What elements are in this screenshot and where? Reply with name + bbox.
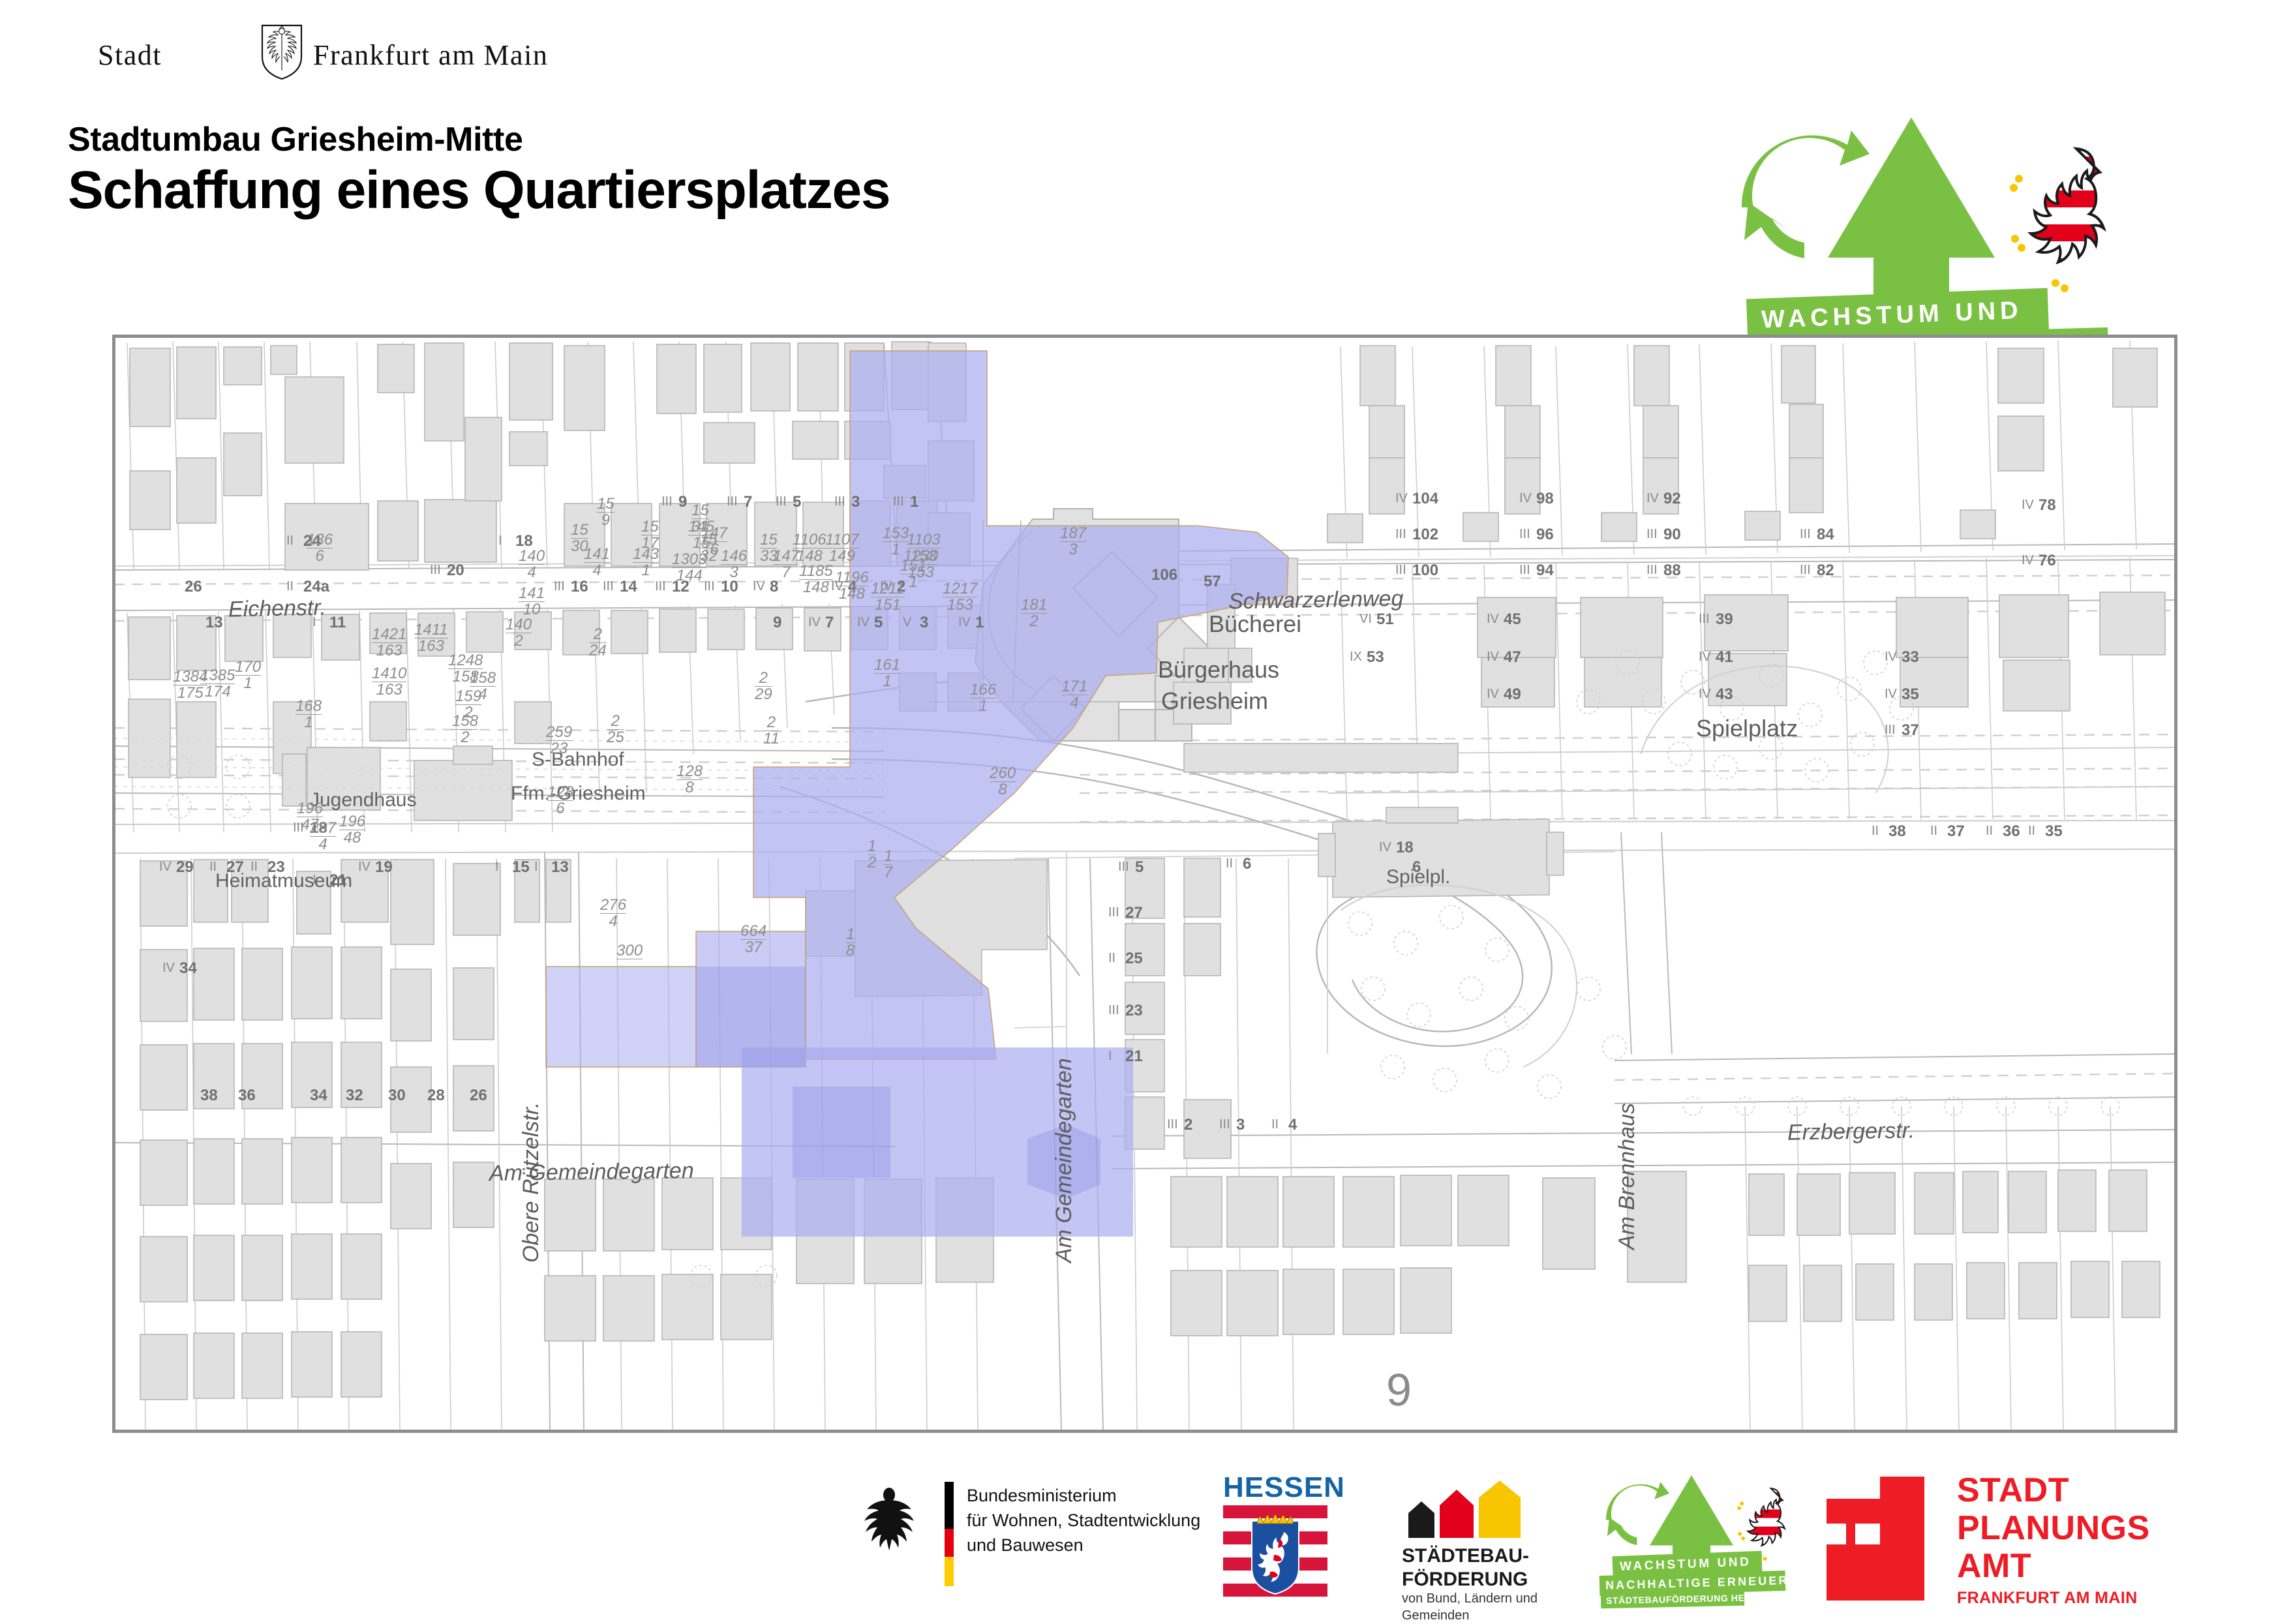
house-number: 30 [388,1087,406,1105]
building-storeys: IV [1487,687,1499,702]
building-storeys: II [1108,951,1115,966]
stadtplanungsamt-subtitle: FRANKFURT AM MAIN [1957,1589,2138,1608]
building-storeys: III [655,579,666,594]
building-storeys: III [661,494,673,509]
building-storeys: I [312,615,316,630]
poi-buergerhaus: Bürgerhaus [1158,656,1279,684]
house-number: 7 [744,493,752,511]
parcel-number: 1812 [1021,597,1047,629]
building-storeys: III [776,494,787,509]
parcel-number: 1421163 [372,627,406,659]
building-storeys: III [603,579,614,594]
house-number: 6 [1412,858,1421,877]
house-number: 26 [470,1087,487,1105]
staedtebau-sub-2: Gemeinden [1402,1607,1538,1624]
house-number: 21 [1125,1047,1143,1066]
staedtebau-line-1: STÄDTEBAU- [1402,1544,1529,1568]
parcel-number: 25923 [546,725,572,757]
building-storeys: III [1118,860,1129,875]
poi-buecherei: Bücherei [1209,610,1301,638]
parcel-number: 1611 [874,657,900,689]
parcel-number: 1531 [691,503,709,535]
page-title: Schaffung eines Quartiersplatzes [68,160,890,221]
building-storeys: I [312,873,316,888]
building-storeys: II [2028,824,2035,839]
street-label-eichenstr: Eichenstr. [228,595,327,622]
building-storeys: III [430,563,441,578]
house-number: 100 [1412,562,1438,580]
parcel-number: 1288 [676,764,703,796]
hessen-lion-shield-icon [1251,1512,1300,1595]
building-storeys: III [1699,612,1710,627]
building-storeys: II [286,579,294,594]
house-number: 76 [2039,552,2056,570]
parcel-number: 1533 [760,532,778,564]
stadtplanungsamt-line-3: AMT [1957,1547,2150,1585]
building-storeys: II [1271,1117,1279,1132]
house-number: 94 [1536,562,1554,580]
building-storeys: IV [2022,498,2034,513]
house-number: 9 [678,493,687,511]
house-number: 51 [1376,610,1394,629]
house-number: 9 [773,614,781,632]
staedtebaufoerderung-logo: STÄDTEBAU- FÖRDERUNG von Bund, Ländern u… [1386,1467,1575,1617]
parcel-number: 1286 [547,785,573,817]
house-number: 43 [1716,685,1733,704]
parcel-number: 1701 [235,659,261,691]
parcel-number: 12 [868,839,876,871]
parcel-number: 1410163 [372,666,406,698]
building-storeys: IV [1699,650,1711,665]
house-number: 2 [1184,1116,1192,1134]
parcel-number: 1530 [571,522,588,554]
building-storeys: III [1219,1117,1230,1132]
building-storeys: III [1395,527,1406,542]
staedtebau-subtext: von Bund, Ländern und Gemeinden [1402,1590,1538,1624]
house-number: 27 [226,858,244,877]
house-number: 1 [975,614,984,632]
page-header: Stadt Frankfurt am Main Stadtumbau Gries… [0,0,2289,326]
house-number: 88 [1663,562,1681,580]
staedtebau-sub-1: von Bund, Ländern und [1402,1590,1538,1607]
bmwsb-text: Bundesministerium für Wohnen, Stadtentwi… [967,1483,1200,1557]
house-number: 13 [551,858,569,877]
building-storeys: IV [808,615,821,630]
house-number: 35 [2045,822,2063,841]
house-number: 38 [1888,822,1906,841]
house-number: 16 [571,578,588,596]
poi-jugendhaus: Jugendhaus [310,789,416,811]
parcel-number: 1463 [721,549,747,580]
staedtebau-text: STÄDTEBAU- FÖRDERUNG [1402,1544,1529,1591]
building-storeys: II [209,860,217,875]
house-number: 35 [1902,685,1919,704]
house-number: 13 [205,614,223,632]
building-storeys: IV [2022,553,2034,568]
parcel-number: 1681 [296,699,322,730]
house-number: 24a [303,578,329,596]
house-number: 33 [1902,648,1919,667]
building-storeys: IV [753,579,765,594]
parcel-number: 229 [755,670,772,702]
parcel-number: 1185148 [799,564,833,595]
bmwsb-logo: Bundesministerium für Wohnen, Stadtentwi… [861,1467,1213,1617]
parcel-number: 300 [616,943,643,959]
building-storeys: III [1519,563,1530,578]
house-number: 37 [1902,721,1919,740]
house-number: 41 [1716,648,1733,667]
parcel-number: 1402 [506,617,532,649]
poi-spielplatz: Spielplatz [1696,715,1798,742]
building-storeys: III [1885,723,1896,738]
hessen-logo: HESSEN [1210,1467,1347,1617]
parcel-number: 19648 [339,814,365,846]
house-number: 45 [1504,610,1521,629]
building-storeys: II [1226,856,1233,871]
house-number: 25 [1125,950,1143,968]
house-number: 37 [1947,822,1965,841]
building-storeys: IV [1379,840,1391,855]
city-logo-word-left: Stadt [98,38,162,72]
building-storeys: IV [958,615,971,630]
house-number: 5 [793,493,801,511]
building-storeys: IV [1699,687,1711,702]
building-storeys: III [1395,563,1406,578]
building-storeys: III [1800,563,1811,578]
parcel-number: 1217153 [943,581,977,613]
german-flag-bar-icon [945,1482,954,1586]
house-number: 7 [825,614,834,632]
bmwsb-line-3: und Bauwesen [967,1533,1200,1557]
house-number: 106 [1151,566,1177,584]
parcel-number: 1582 [452,714,478,745]
house-number: 78 [2039,496,2056,515]
parcel-number: 211 [763,715,780,747]
house-number: 19 [375,858,393,877]
building-storeys: III [1167,1117,1178,1132]
parcel-number: 224 [589,627,607,659]
building-storeys: I [498,534,502,549]
building-storeys: IV [1519,491,1532,506]
house-number: 49 [1504,685,1521,704]
house-number: 1 [910,493,918,511]
house-number: 3 [1236,1116,1245,1134]
building-storeys: IV [1487,612,1499,627]
house-number: 3 [851,493,860,511]
house-number: 36 [2003,822,2020,841]
house-number: 18 [1396,839,1414,857]
parcel-number: 66437 [740,924,766,955]
street-label-am-brennhaus: Am Brennhaus [1614,1103,1640,1250]
street-label-obere-ruetzelstr: Obere Rützelstr. [519,1102,544,1263]
building-storeys: III [1646,527,1658,542]
bmwsb-line-2: für Wohnen, Stadtentwicklung [967,1508,1200,1533]
building-storeys: IV [1487,650,1499,665]
building-storeys: IV [1885,687,1897,702]
cadastral-map[interactable]: Eichenstr. Schwarzerlenweg Erzbergerstr.… [112,335,2177,1433]
bmwsb-line-1: Bundesministerium [967,1483,1200,1508]
parcel-number: 2764 [600,897,626,929]
parcel-number: 1531 [883,526,909,558]
building-storeys: IV [1395,491,1408,506]
building-storeys: IV [1885,650,1897,665]
house-number: 20 [447,562,464,580]
building-storeys: II [1930,824,1937,839]
building-storeys: I [495,860,499,875]
house-number: 84 [1817,526,1834,544]
house-number: 15 [512,858,530,877]
building-storeys: IX [1350,650,1362,665]
house-number: 23 [1125,1002,1143,1020]
house-number: 57 [1204,573,1221,591]
house-number: 34 [310,1087,327,1105]
house-number: 8 [770,578,778,596]
building-storeys: II [286,534,294,549]
stadtplanungsamt-logo: STADT PLANUNGS AMT FRANKFURT AM MAIN [1827,1467,2192,1617]
three-houses-icon [1402,1479,1532,1538]
stadtplanungsamt-line-2: PLANUNGS [1957,1509,2150,1547]
funding-logos-footer: Bundesministerium für Wohnen, Stadtentwi… [0,1467,2289,1617]
building-storeys: IV [1646,491,1659,506]
stadtplanungsamt-line-1: STADT [1957,1471,2150,1509]
house-number: 96 [1536,526,1554,544]
parcel-number: 18 [846,927,855,959]
building-storeys: III [1646,563,1658,578]
parcel-number: 2608 [990,766,1016,798]
building-storeys: IV [162,961,175,976]
staedtebau-line-2: FÖRDERUNG [1402,1568,1529,1591]
city-of-frankfurt-logo: Stadt Frankfurt am Main [98,29,515,76]
building-storeys: III [834,494,845,509]
parcel-number: 1714 [1061,679,1087,711]
wachstum-footer-logo: WACHSTUM UND NACHHALTIGE ERNEUERUNG STÄD… [1598,1467,1800,1617]
house-number: 82 [1817,562,1834,580]
house-number: 104 [1412,490,1438,508]
map-big-number: 9 [1386,1364,1412,1416]
poi-buergerhaus-griesheim: Griesheim [1161,687,1268,715]
parcel-number: 17 [884,849,892,880]
building-storeys: II [1986,824,1993,839]
building-storeys: III [893,494,904,509]
parcel-number: 159 [597,496,614,528]
house-number: 23 [267,858,285,877]
house-number: 6 [1243,855,1251,873]
building-storeys: V [903,615,911,630]
building-storeys: IV [159,860,172,875]
hessen-lion-icon [1993,143,2117,300]
project-subtitle: Stadtumbau Griesheim-Mitte [68,120,523,159]
building-storeys: II [250,860,258,875]
frankfurt-eagle-crest-icon [260,24,304,80]
house-number: 14 [620,578,637,596]
poi-s-bahnhof-ffm-griesheim: Ffm.-Griesheim [511,783,646,805]
stadtplanungsamt-mark-icon [1827,1477,1924,1601]
building-storeys: III [727,494,738,509]
parcel-number: 1107149 [825,532,859,564]
house-number: 90 [1663,526,1681,544]
stadtplanungsamt-wordmark: STADT PLANUNGS AMT [1957,1471,2150,1585]
building-storeys: III [1519,527,1530,542]
building-storeys: III [1108,1003,1119,1018]
parcel-number: 14110 [519,586,545,618]
house-number: 3 [920,614,928,632]
house-number: 53 [1367,648,1384,667]
building-storeys: VI [1359,612,1372,627]
house-number: 98 [1536,490,1554,508]
parcel-number: 1532 [700,532,718,564]
parcel-number: 1404 [519,549,545,580]
parcel-number: 1366 [307,532,333,564]
house-number: 92 [1663,490,1681,508]
wachstum-band-3: STÄDTEBAUFÖRDERUNG HESSEN [1601,1589,1744,1609]
building-storeys: III [554,579,565,594]
pine-tree-icon [1827,117,1996,313]
building-storeys: III [1108,905,1119,920]
building-storeys: I [534,860,538,875]
building-storeys: IV [358,860,371,875]
street-label-am-gemeindegarten-vertical: Am Gemeindegarten [1052,1058,1077,1263]
house-number: 34 [179,959,197,978]
building-storeys: IV [857,615,870,630]
building-storeys: II [1872,824,1879,839]
building-storeys: I [1108,1049,1112,1064]
parcel-number: 1411163 [414,622,448,654]
parcel-number: 1196148 [835,570,869,602]
house-number: 39 [1716,610,1733,629]
quartiersplatz-highlight-area [114,337,2175,1431]
house-number: 26 [185,578,202,596]
house-number: 5 [874,614,883,632]
federal-eagle-icon [861,1482,917,1550]
house-number: 28 [427,1087,445,1105]
street-label-erzbergerstr: Erzbergerstr. [1787,1118,1915,1145]
house-number: 5 [1135,858,1144,877]
building-storeys: III [1800,527,1811,542]
parcel-number: 1517 [641,519,659,551]
house-number: 29 [176,858,194,877]
house-number: 11 [329,614,346,632]
parcel-number: 1661 [970,682,996,714]
house-number: 102 [1412,526,1438,544]
hessen-wordmark: HESSEN [1223,1471,1345,1504]
parcel-number: 1385174 [200,668,235,700]
parcel-number: 2974 [310,820,336,852]
house-number: 27 [1125,904,1143,922]
house-number: 38 [200,1087,218,1105]
parcel-number: 1106148 [793,532,826,564]
house-number: 21 [329,871,347,890]
house-number: 47 [1504,648,1521,667]
parcel-number: 1211151 [871,581,905,613]
parcel-number: 1873 [1060,526,1086,558]
house-number: 36 [238,1087,256,1105]
house-number: 32 [346,1087,363,1105]
house-number: 4 [1288,1116,1297,1134]
parcel-number: 225 [607,714,624,745]
city-logo-word-right: Frankfurt am Main [313,38,548,72]
